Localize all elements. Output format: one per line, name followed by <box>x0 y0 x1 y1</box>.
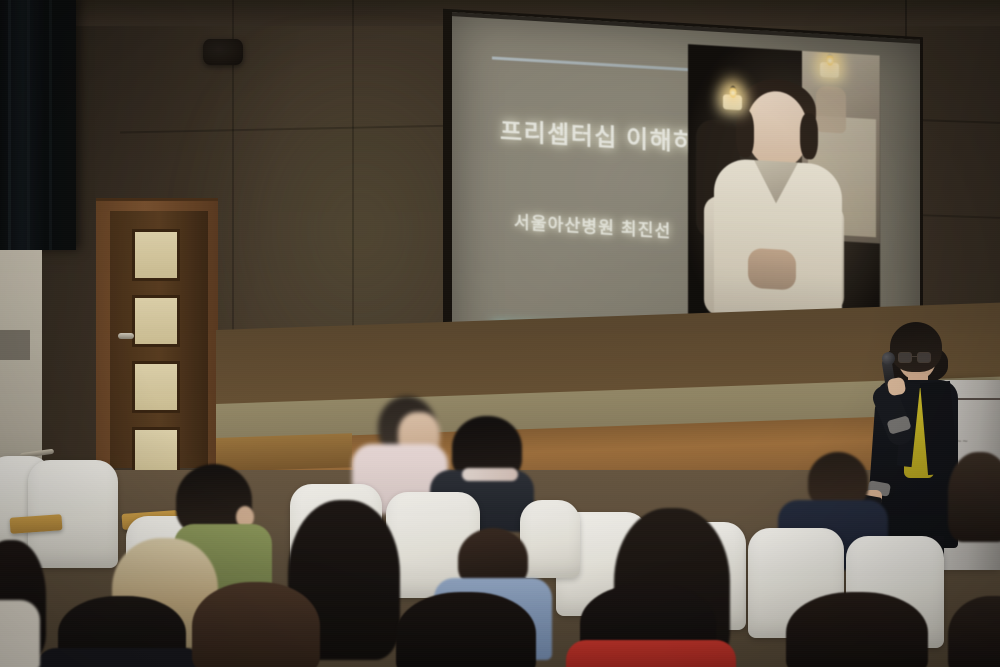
slide-top-rule <box>492 56 697 71</box>
door-handle-icon[interactable] <box>118 333 134 339</box>
door-glass-pane <box>132 229 180 281</box>
attendee-front-right <box>786 592 928 667</box>
glasses-lens <box>917 352 931 363</box>
attendee-right-edge <box>948 452 1000 542</box>
attendee-front-red-jacket <box>566 640 736 667</box>
presenter-eyeglasses-icon <box>898 352 934 363</box>
side-exit-door[interactable] <box>96 198 218 468</box>
presenter-hair <box>890 322 942 372</box>
auditorium-chair[interactable] <box>520 500 580 578</box>
attendee-left-edge-clothes <box>0 600 40 667</box>
curtain-fold <box>8 0 11 250</box>
glasses-lens <box>898 352 912 363</box>
candle-flame-icon <box>723 94 742 110</box>
stage-curtain <box>0 0 76 250</box>
attendee-front-brown <box>192 582 320 667</box>
door-glass-pane <box>132 427 180 473</box>
curtain-fold <box>49 0 52 250</box>
stage-riser-step <box>216 433 352 472</box>
slide-photo-nurse-candlelight <box>688 44 880 347</box>
photo-nurse-hands <box>748 248 796 291</box>
photo-nurse-hair-side <box>736 109 754 158</box>
attendee-scarf <box>462 468 518 481</box>
attendee-front-left-clothes <box>36 648 204 667</box>
door-leaf[interactable] <box>110 211 208 468</box>
wall-light-panel-shadow <box>0 330 30 360</box>
lecture-hall-photo: 프리셉터십 이해하기 서울아산병원 최진선 <box>0 0 1000 667</box>
door-glass-pane <box>132 295 180 347</box>
curtain-fold <box>27 0 30 250</box>
door-glass-pane <box>132 361 180 413</box>
attendee-front-center <box>396 592 536 667</box>
wall-speaker-icon <box>203 39 243 65</box>
photo-inset-hand <box>816 86 846 134</box>
auditorium-chair[interactable] <box>28 460 118 568</box>
photo-nurse-hair-side <box>800 113 818 160</box>
glasses-bridge <box>912 356 917 357</box>
candle-flame-icon <box>820 62 839 78</box>
